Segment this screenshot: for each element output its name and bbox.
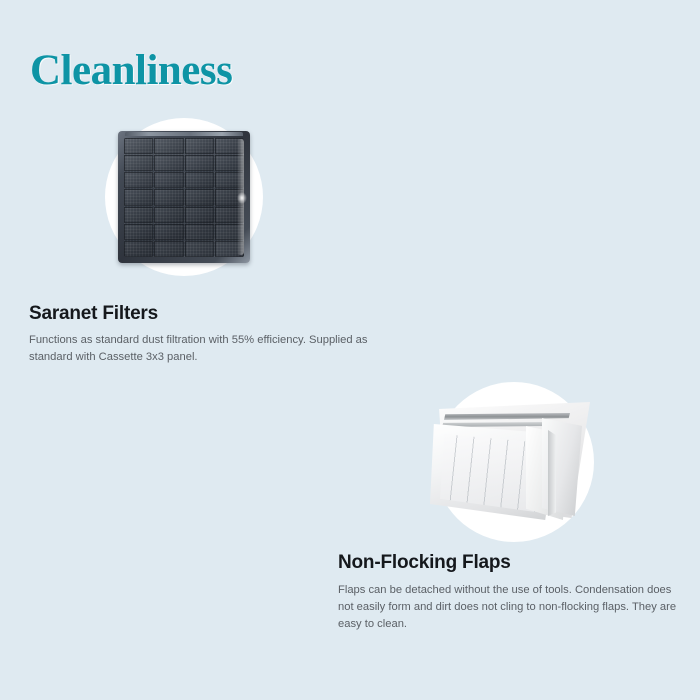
mesh-cell — [185, 241, 214, 257]
mesh-cell — [185, 155, 214, 171]
cassette-panel-graphic — [430, 396, 598, 528]
page-title: Cleanliness — [30, 47, 232, 94]
mesh-cell — [215, 138, 244, 154]
mesh-cell — [185, 207, 214, 223]
mesh-cell — [124, 241, 153, 257]
mesh-cell — [154, 207, 183, 223]
non-flocking-flaps-heading: Non-Flocking Flaps — [338, 552, 511, 574]
mesh-cell — [124, 138, 153, 154]
filter-photo-stage — [105, 118, 263, 276]
filter-panel-graphic — [118, 131, 250, 263]
mesh-cell — [154, 189, 183, 205]
mesh-cell — [215, 224, 244, 240]
saranet-filters-body: Functions as standard dust filtration wi… — [29, 332, 399, 366]
mesh-cell — [215, 241, 244, 257]
mesh-cell — [124, 189, 153, 205]
filter-frame — [118, 131, 250, 263]
mesh-cell — [185, 138, 214, 154]
mesh-cell — [154, 241, 183, 257]
flaps-photo-stage — [434, 382, 594, 542]
mesh-cell — [185, 224, 214, 240]
cassette-flaps-photo — [434, 382, 594, 542]
mesh-cell — [124, 207, 153, 223]
mesh-cell — [124, 224, 153, 240]
saranet-filters-heading: Saranet Filters — [29, 303, 158, 325]
mesh-cell — [215, 189, 244, 205]
mesh-cell — [215, 207, 244, 223]
saranet-filter-photo — [105, 118, 263, 276]
filter-mesh-grid — [124, 138, 244, 257]
mesh-cell — [185, 189, 214, 205]
mesh-cell — [154, 138, 183, 154]
mesh-cell — [124, 155, 153, 171]
mesh-cell — [154, 224, 183, 240]
mesh-cell — [154, 155, 183, 171]
mesh-cell — [124, 172, 153, 188]
filter-top-lip — [125, 132, 243, 136]
non-flocking-flaps-body: Flaps can be detached without the use of… — [338, 582, 683, 633]
mesh-cell — [154, 172, 183, 188]
mesh-cell — [215, 155, 244, 171]
mesh-cell — [215, 172, 244, 188]
cassette-flap-edge — [548, 430, 556, 516]
mesh-cell — [185, 172, 214, 188]
cleanliness-page: Cleanliness — [0, 0, 700, 700]
